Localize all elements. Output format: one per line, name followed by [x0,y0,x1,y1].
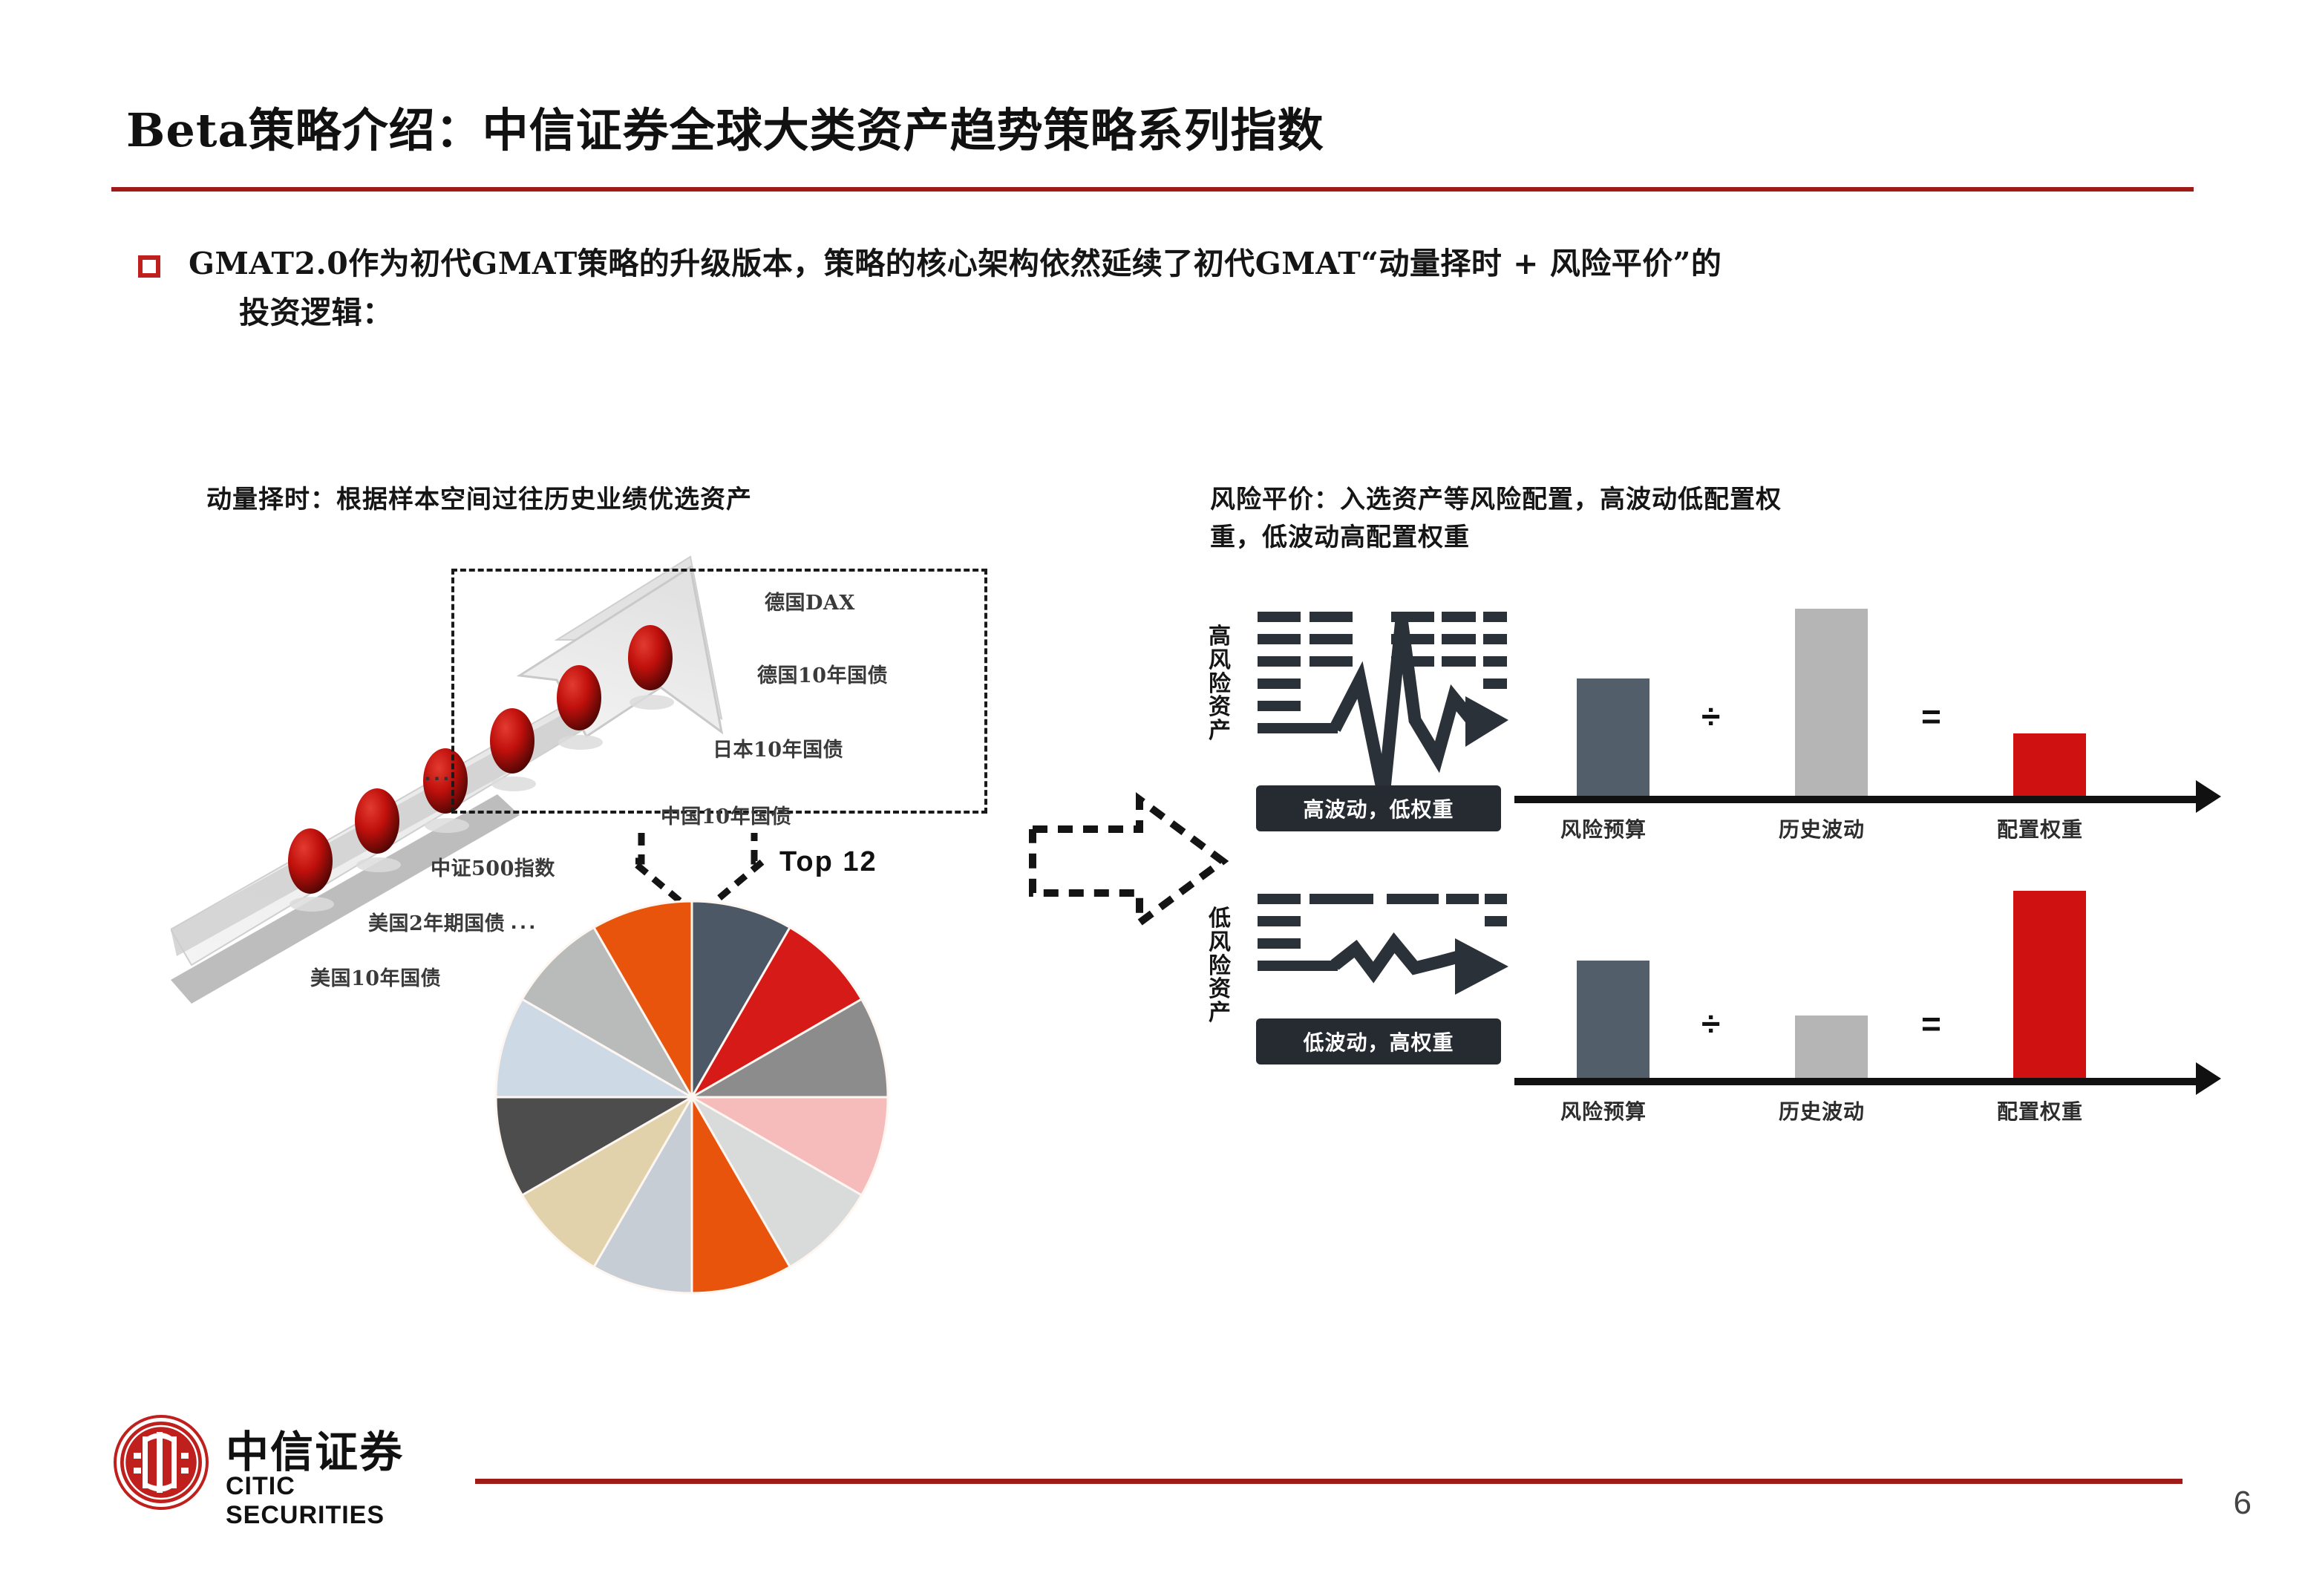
title-divider [111,187,2194,192]
bar-label-alloc-weight-low: 配置权重 [1997,1096,2083,1125]
row-label-high-risk: 高风险资产 [1203,625,1237,743]
bar-chart-high-risk: ÷ = 风险预算 历史波动 配置权重 [1514,609,2242,854]
logo-text-en: CITIC SECURITIES [226,1472,462,1530]
risk-parity-caption-line1: 入选资产等风险配置，高波动低配置权 [1340,485,1782,514]
ellipsis-left: ... [425,761,452,786]
operator-divide-low: ÷ [1701,1004,1720,1044]
bar-axis-arrow-high [2196,780,2221,813]
row-label-high-risk-text: 高风险资产 [1203,625,1237,743]
logo-text-cn: 中信证券 [226,1417,404,1479]
operator-equals-low: = [1921,1004,1941,1044]
bar-axis-low [1514,1078,2197,1085]
momentum-caption-rest: 根据样本空间过往历史业绩优选资产 [336,485,752,514]
tag-low-volatility: 低波动，高权重 [1256,1018,1501,1064]
asset-label-jp-10y: 日本10年国债 [713,733,843,762]
asset-label-csi500: 中证500指数 [431,852,555,881]
bar-alloc-weight-low [2013,891,2086,1078]
bar-axis-high [1514,796,2197,803]
citic-securities-logo: 中信证券 CITIC SECURITIES [113,1414,462,1544]
momentum-caption-lead: 动量择时： [206,485,336,514]
bar-label-hist-vol-low: 历史波动 [1779,1096,1865,1125]
risk-parity-caption-line2: 重，低波动高配置权重 [1210,523,1470,552]
square-bullet-icon [138,255,160,278]
risk-parity-caption: 风险平价：入选资产等风险配置，高波动低配置权 重，低波动高配置权重 [1210,481,2086,557]
row-label-low-risk: 低风险资产 [1203,907,1237,1025]
pie-svg [491,897,892,1298]
operator-divide-high: ÷ [1701,696,1720,736]
top-12-label: Top 12 [779,846,877,878]
page-number: 6 [2234,1485,2252,1522]
bar-hist-vol-high [1795,609,1868,796]
bar-chart-low-risk: ÷ = 风险预算 历史波动 配置权重 [1514,891,2242,1136]
allocation-pie-chart [491,897,892,1298]
bullet-line-1: GMAT2.0作为初代GMAT策略的升级版本，策略的核心架构依然延续了初代GMA… [189,239,1722,288]
operator-equals-high: = [1921,696,1941,736]
bar-label-alloc-weight-high: 配置权重 [1997,814,2083,843]
asset-label-de-dax: 德国DAX [765,586,855,615]
bullet-line-2: 投资逻辑： [239,288,1722,337]
risk-parity-row-low: 低风险资产 低波动，高权重 [1203,891,2242,1158]
tag-high-volatility: 高波动，低权重 [1256,785,1501,831]
dashed-right-arrow-icon [1028,783,1229,939]
risk-parity-diagram: 高风险资产 [1203,594,2242,1158]
risk-parity-row-high: 高风险资产 [1203,609,2242,876]
asset-label-us-10y: 美国10年国债 [310,962,441,991]
asset-label-de-10y: 德国10年国债 [757,659,888,688]
bar-axis-arrow-low [2196,1062,2221,1095]
bar-label-risk-budget-low: 风险预算 [1560,1096,1647,1125]
risk-parity-caption-lead: 风险平价： [1210,485,1340,514]
row-label-low-risk-text: 低风险资产 [1203,907,1237,1025]
bar-hist-vol-low [1795,1016,1868,1078]
citic-seal-icon [113,1414,209,1511]
bar-risk-budget-high [1577,678,1650,796]
bar-label-hist-vol-high: 历史波动 [1779,814,1865,843]
top-assets-dashed-box [451,569,987,814]
slide-root: Beta策略介绍：中信证券全球大类资产趋势策略系列指数 GMAT2.0作为初代G… [0,0,2305,1596]
bar-risk-budget-low [1577,961,1650,1078]
low-volatility-chart-icon [1256,891,1508,1113]
bullet-block: GMAT2.0作为初代GMAT策略的升级版本，策略的核心架构依然延续了初代GMA… [138,239,2187,338]
bar-alloc-weight-high [2013,733,2086,796]
page-title: Beta策略介绍：中信证券全球大类资产趋势策略系列指数 [126,93,1324,160]
bar-label-risk-budget-high: 风险预算 [1560,814,1647,843]
footer-divider [475,1479,2183,1484]
momentum-caption: 动量择时：根据样本空间过往历史业绩优选资产 [206,481,752,519]
asset-label-us-2y: 美国2年期国债 [368,907,505,936]
